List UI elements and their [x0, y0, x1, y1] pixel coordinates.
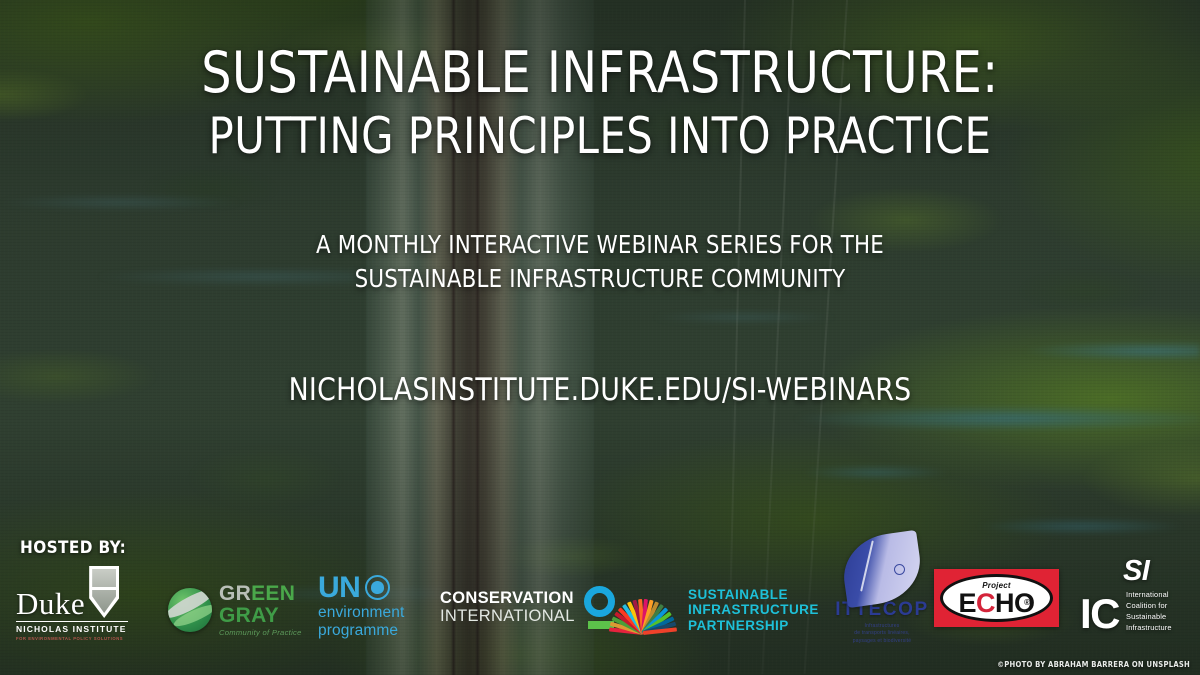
echo-wordmark: ECHO ®	[958, 590, 1034, 619]
icsi-name-line2: Coalition for	[1126, 600, 1192, 611]
sip-line-sustainable: SUSTAINABLE	[688, 587, 819, 602]
logo-project-echo[interactable]: Project ECHO ®	[934, 569, 1059, 627]
duke-institute-tagline: FOR ENVIRONMENTAL POLICY SOLUTIONS	[16, 636, 148, 641]
sponsor-logo-bar: Duke NICHOLAS INSTITUTE FOR ENVIRONMENTA…	[0, 561, 1200, 647]
oval-badge-icon: Project ECHO ®	[934, 569, 1059, 627]
page-title-line-2: PUTTING PRINCIPLES INTO PRACTICE	[42, 109, 1158, 163]
globe-icon	[168, 588, 212, 632]
icsi-ic-mark: IC	[1080, 597, 1119, 631]
leaf-icon	[843, 535, 921, 603]
echo-letter-c: C	[976, 588, 995, 618]
echo-registered-mark: ®	[1024, 599, 1029, 607]
un-line-programme: programme	[318, 622, 404, 639]
green-gray-text: GREEN GRAY Community of Practice	[219, 583, 302, 637]
green-gray-word-green-part2: EEN	[251, 582, 295, 605]
un-line-environment: environment	[318, 604, 404, 621]
duke-logo-row: Duke	[16, 566, 148, 619]
duke-shield-icon	[89, 566, 119, 618]
icsi-name-line4: Infrastructure	[1126, 622, 1192, 633]
un-wordmark: UN	[318, 574, 360, 601]
logo-conservation-international[interactable]: CONSERVATION INTERNATIONAL	[440, 586, 618, 629]
ci-line-international: INTERNATIONAL	[440, 608, 575, 625]
logo-international-coalition-sustainable-infrastructure[interactable]: IC SI International Coalition for Sustai…	[1080, 563, 1190, 635]
ittecop-tagline-line3: paysages et biodiversité	[833, 638, 931, 646]
un-logo-top-row: UN	[318, 574, 404, 601]
subtitle-line-1: A MONTHLY INTERACTIVE WEBINAR SERIES FOR…	[30, 228, 1170, 262]
hosted-by-label: HOSTED BY:	[20, 538, 126, 558]
sip-line-partnership: PARTNERSHIP	[688, 618, 819, 633]
subtitle-line-2: SUSTAINABLE INFRASTRUCTURE COMMUNITY	[30, 262, 1170, 296]
ittecop-tagline-line2: de transports linéaires,	[833, 630, 931, 638]
icsi-si-mark: SI	[1123, 559, 1149, 584]
echo-oval: Project ECHO ®	[940, 574, 1053, 622]
page-title-line-1: SUSTAINABLE INFRASTRUCTURE:	[42, 44, 1158, 103]
webinar-series-url[interactable]: NICHOLASINSTITUTE.DUKE.EDU/SI-WEBINARS	[24, 372, 1176, 408]
green-gray-word-gray: GRAY	[219, 605, 302, 626]
green-gray-word-green-part1: GR	[219, 582, 251, 605]
duke-divider	[16, 621, 128, 622]
sip-text: SUSTAINABLE INFRASTRUCTURE PARTNERSHIP	[688, 587, 819, 633]
ittecop-tagline: Infrastructures de transports linéaires,…	[833, 623, 931, 646]
echo-letter-e: E	[958, 588, 976, 618]
sdg-fan-icon	[608, 587, 678, 633]
un-emblem-icon	[365, 575, 390, 600]
conservation-international-text: CONSERVATION INTERNATIONAL	[440, 590, 575, 625]
logo-duke-nicholas-institute[interactable]: Duke NICHOLAS INSTITUTE FOR ENVIRONMENTA…	[16, 566, 148, 641]
duke-wordmark: Duke	[16, 589, 85, 619]
logo-ittecop[interactable]: ITTECOP Infrastructures de transports li…	[833, 535, 931, 646]
sip-line-infrastructure: INFRASTRUCTURE	[688, 602, 819, 617]
logo-sustainable-infrastructure-partnership[interactable]: SUSTAINABLE INFRASTRUCTURE PARTNERSHIP	[608, 587, 819, 633]
title-block: SUSTAINABLE INFRASTRUCTURE: PUTTING PRIN…	[0, 44, 1200, 163]
green-gray-tagline: Community of Practice	[219, 629, 302, 637]
logo-green-gray[interactable]: GREEN GRAY Community of Practice	[168, 583, 302, 637]
url-block: NICHOLASINSTITUTE.DUKE.EDU/SI-WEBINARS	[0, 372, 1200, 408]
webinar-title-slide: SUSTAINABLE INFRASTRUCTURE: PUTTING PRIN…	[0, 0, 1200, 675]
icsi-name-line3: Sustainable	[1126, 611, 1192, 622]
ci-line-conservation: CONSERVATION	[440, 590, 575, 607]
subtitle-block: A MONTHLY INTERACTIVE WEBINAR SERIES FOR…	[0, 228, 1200, 295]
photo-credit: ©PHOTO BY ABRAHAM BARRERA ON UNSPLASH	[997, 660, 1190, 669]
slide-content: SUSTAINABLE INFRASTRUCTURE: PUTTING PRIN…	[0, 0, 1200, 675]
icsi-full-name: International Coalition for Sustainable …	[1126, 589, 1192, 633]
ittecop-tagline-line1: Infrastructures	[833, 623, 931, 631]
logo-un-environment-programme[interactable]: UN environment programme	[318, 574, 404, 639]
icsi-name-line1: International	[1126, 589, 1192, 600]
icsi-logo-wrap: IC SI International Coalition for Sustai…	[1080, 563, 1190, 635]
green-gray-word-green: GREEN	[219, 583, 302, 604]
duke-institute-name: NICHOLAS INSTITUTE	[16, 624, 148, 634]
